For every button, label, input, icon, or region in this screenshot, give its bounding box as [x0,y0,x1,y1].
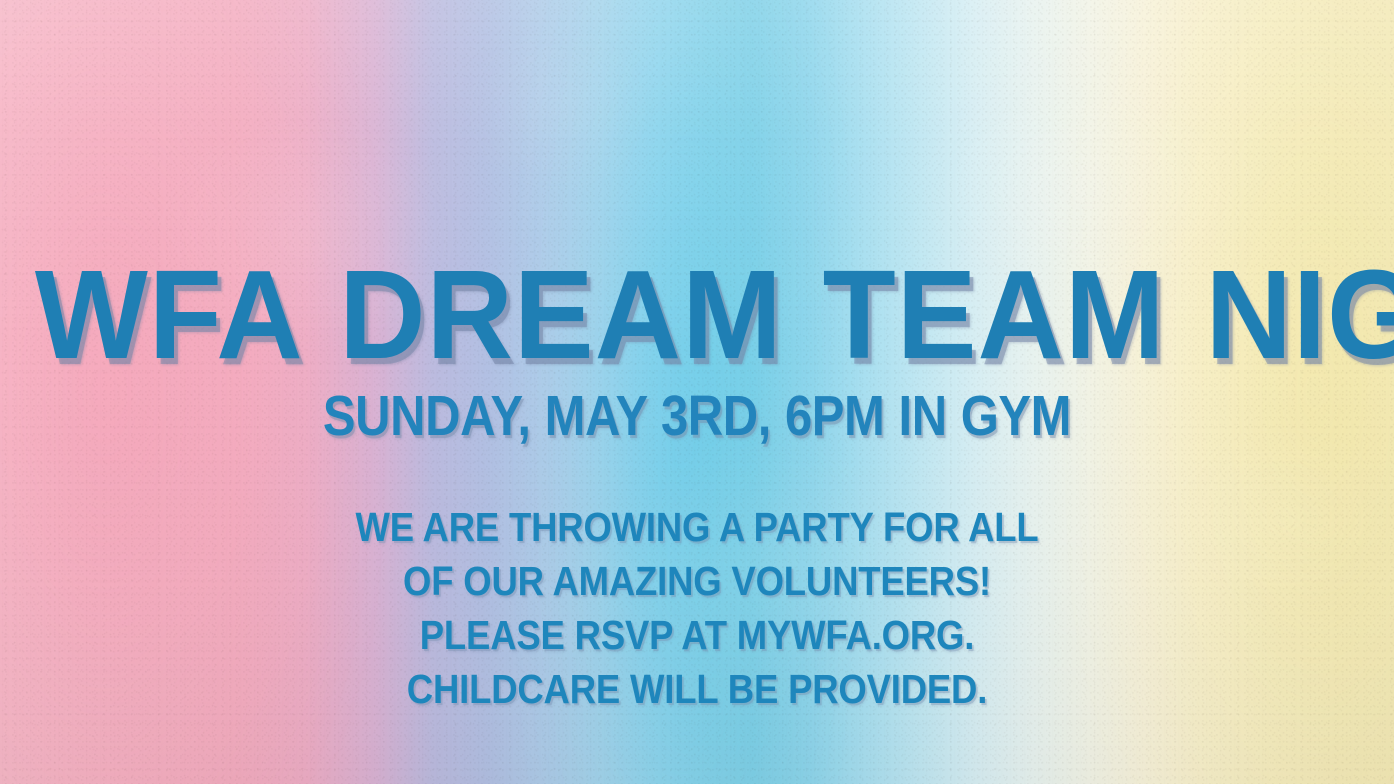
event-description: WE ARE THROWING A PARTY FOR ALL OF OUR A… [77,500,1318,716]
description-line-4: CHILDCARE WILL BE PROVIDED. [77,662,1318,716]
event-details-line: SUNDAY, MAY 3RD, 6PM IN GYM [98,388,1297,445]
poster-content: WFA DREAM TEAM NIGHT SUNDAY, MAY 3RD, 6P… [0,0,1394,784]
description-line-1: WE ARE THROWING A PARTY FOR ALL [77,500,1318,554]
description-line-3: PLEASE RSVP AT MYWFA.ORG. [77,608,1318,662]
description-line-2: OF OUR AMAZING VOLUNTEERS! [77,554,1318,608]
promo-poster: WFA DREAM TEAM NIGHT SUNDAY, MAY 3RD, 6P… [0,0,1394,784]
page-title: WFA DREAM TEAM NIGHT [35,252,1359,378]
